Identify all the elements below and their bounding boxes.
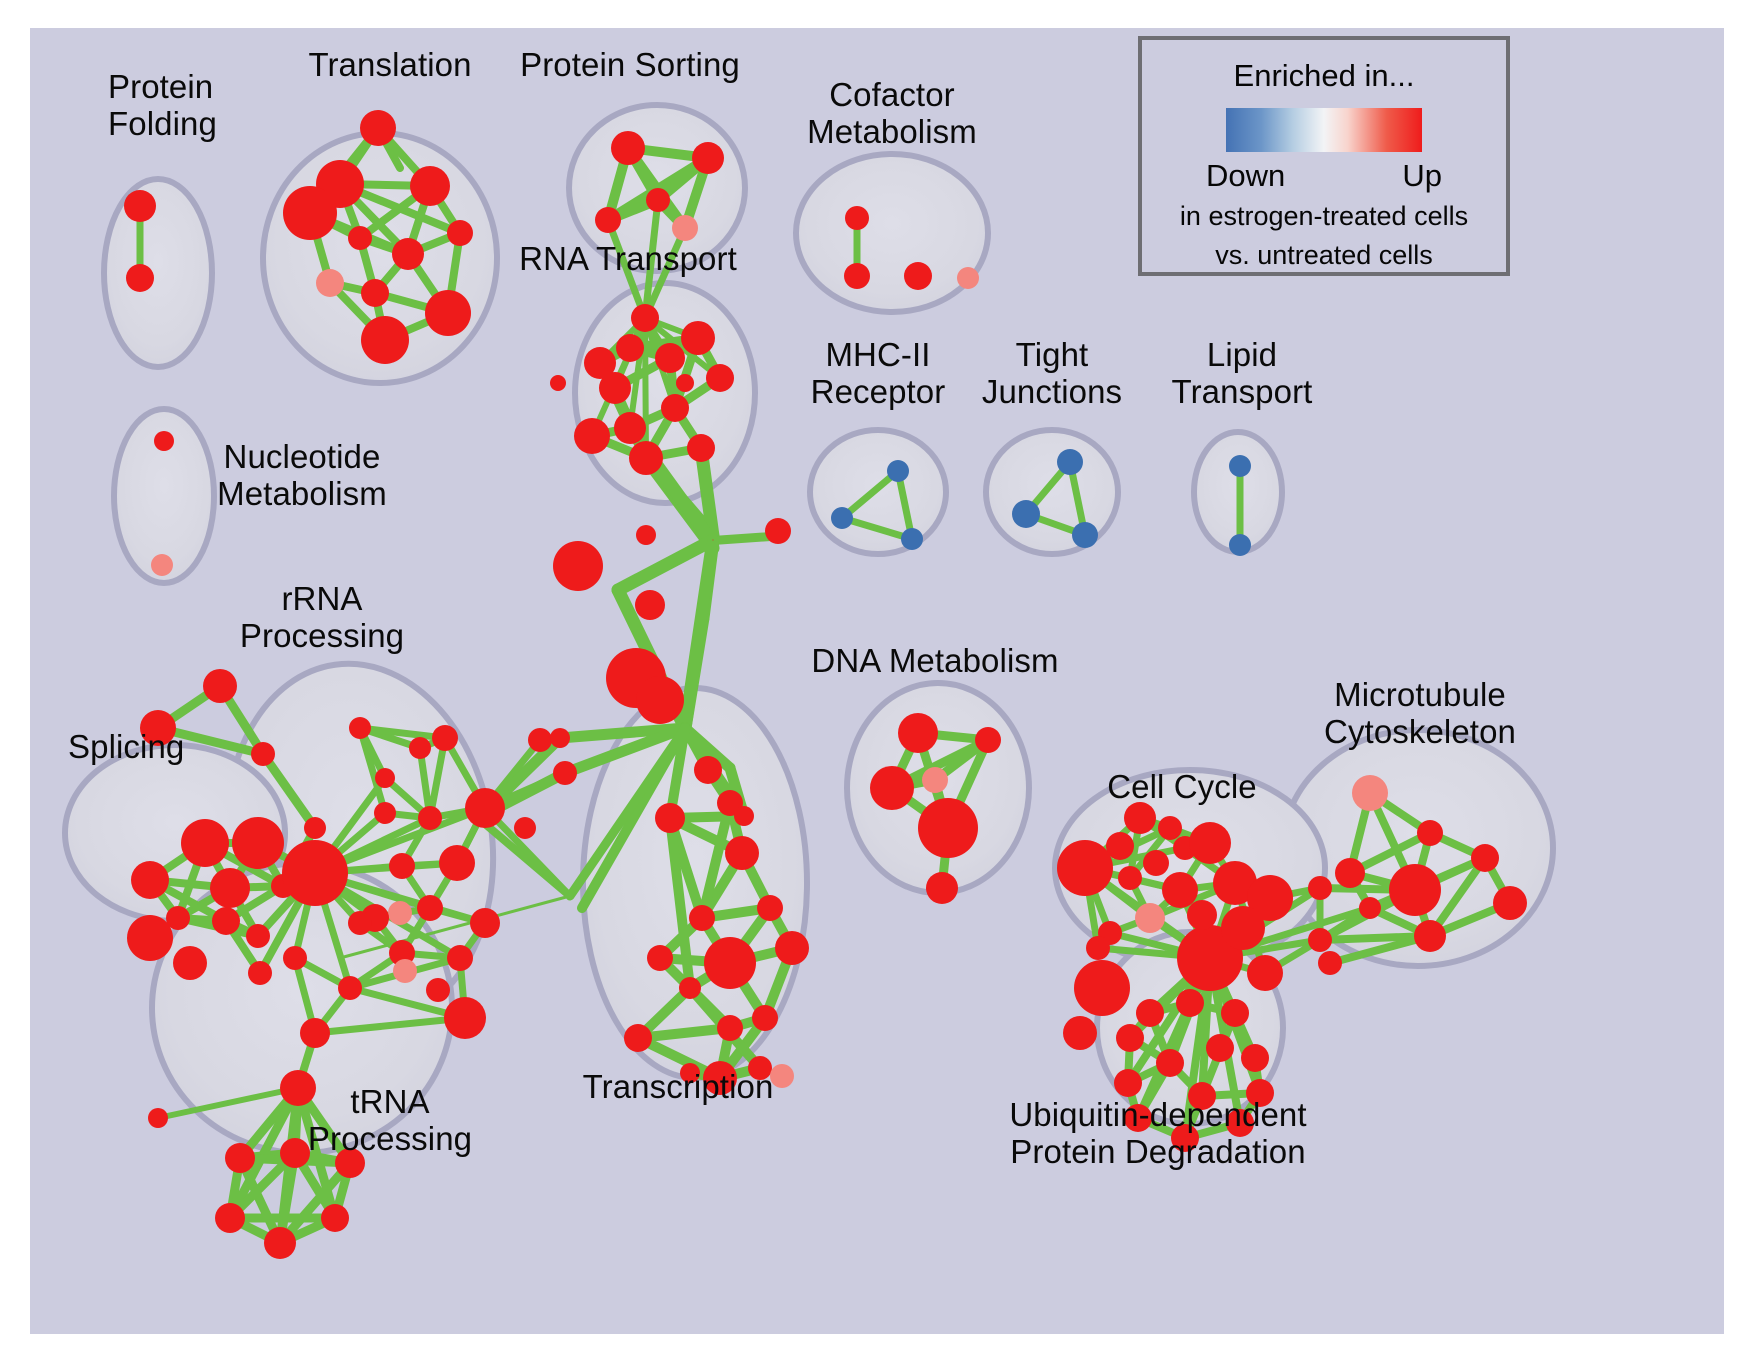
- label-rna-transport: RNA Transport: [519, 240, 737, 277]
- legend-caption-line-1: in estrogen-treated cells: [1180, 200, 1468, 233]
- label-tight-junctions: Tight Junctions: [982, 336, 1122, 410]
- legend-title: Enriched in...: [1234, 58, 1415, 94]
- label-lipid-transport: Lipid Transport: [1172, 336, 1313, 410]
- label-protein-sorting: Protein Sorting: [520, 46, 740, 83]
- label-dna-metabolism: DNA Metabolism: [811, 642, 1058, 679]
- label-cell-cycle: Cell Cycle: [1107, 768, 1257, 805]
- hull-protein-folding: [104, 179, 212, 367]
- hull-tight-junctions: [986, 430, 1118, 554]
- network-canvas: .hull{fill:url(#cg);stroke:#a8a8c2;strok…: [30, 28, 1724, 1334]
- hull-cofactor: [796, 154, 988, 312]
- label-nucleotide-metabolism: Nucleotide Metabolism: [217, 438, 387, 512]
- label-protein-folding: Protein Folding: [108, 68, 217, 142]
- label-rrna-processing: rRNA Processing: [240, 580, 404, 654]
- legend-low-label: Down: [1206, 158, 1285, 194]
- legend-high-label: Up: [1402, 158, 1442, 194]
- legend-panel: Enriched in... Down Up in estrogen-treat…: [1138, 36, 1510, 276]
- label-splicing: Splicing: [68, 728, 184, 765]
- legend-caption-line-2: vs. untreated cells: [1215, 239, 1433, 272]
- label-transcription: Transcription: [583, 1068, 774, 1105]
- label-trna-processing: tRNA Processing: [308, 1083, 472, 1157]
- label-translation: Translation: [308, 46, 471, 83]
- label-cofactor-metabolism: Cofactor Metabolism: [807, 76, 977, 150]
- legend-endpoints: Down Up: [1206, 158, 1442, 194]
- label-mhc-ii-receptor: MHC-II Receptor: [811, 336, 946, 410]
- label-ubiquitin-protein-degradation: Ubiquitin-dependent Protein Degradation: [1009, 1096, 1306, 1170]
- label-microtubule-cytoskeleton: Microtubule Cytoskeleton: [1324, 676, 1516, 750]
- legend-color-bar: [1226, 108, 1422, 152]
